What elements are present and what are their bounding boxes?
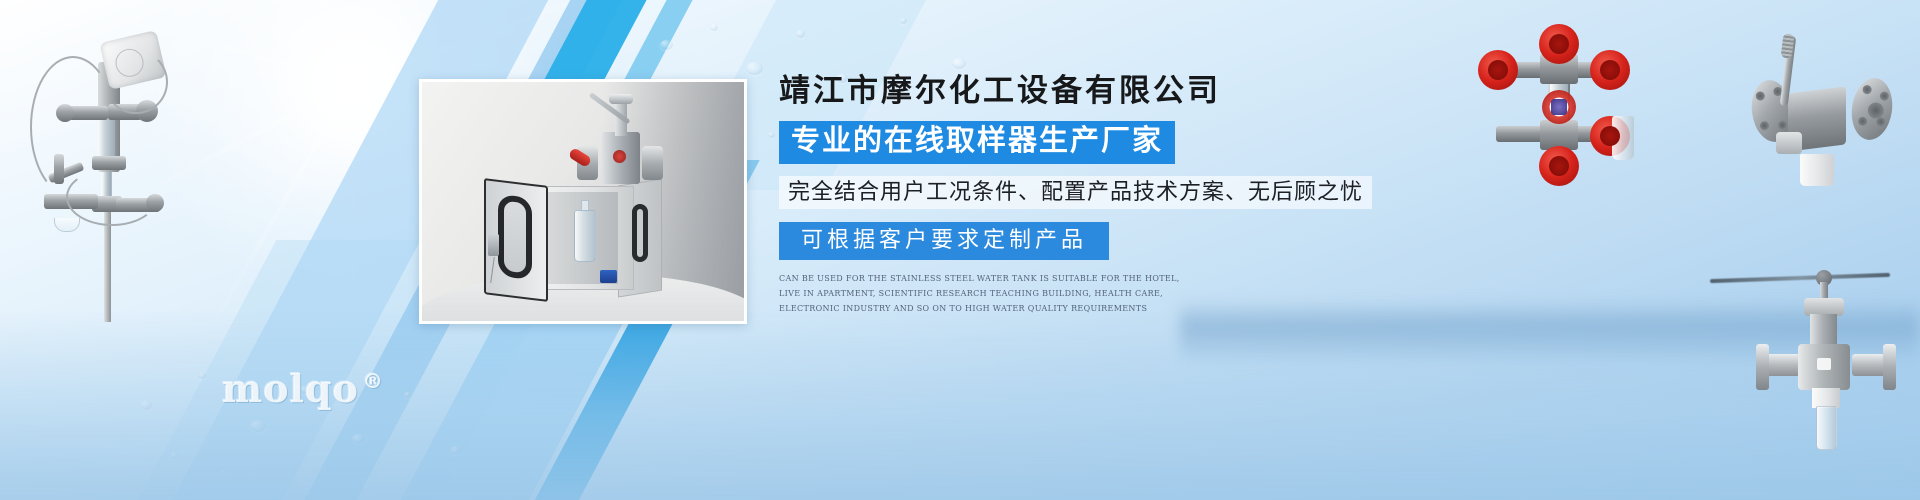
subline-highlight-bar: 完全结合用户工况条件、配置产品技术方案、无后顾之忧 [779,176,1372,209]
headline-highlight-bar: 专业的在线取样器生产厂家 [779,121,1175,163]
banner-text-block: 靖江市摩尔化工设备有限公司 专业的在线取样器生产厂家 完全结合用户工况条件、配置… [779,74,1399,316]
headline-text: 专业的在线取样器生产厂家 [791,126,1163,156]
red-handwheel-icon [1478,50,1518,90]
promo-banner: 靖江市摩尔化工设备有限公司 专业的在线取样器生产厂家 完全结合用户工况条件、配置… [0,0,1920,500]
watermark-brand: molqo [222,366,359,411]
company-name: 靖江市摩尔化工设备有限公司 [779,74,1399,108]
tagline-text: 可根据客户要求定制产品 [801,228,1087,252]
product-cross-sampler [1472,28,1652,176]
brand-watermark: molqo® [222,366,384,411]
red-handwheel-icon [1539,24,1579,64]
sampler-cabinet-photo [422,82,744,321]
english-description-text: CAN BE USED FOR THE STAINLESS STEEL WATE… [779,272,1183,316]
product-left-sampler [8,22,198,322]
product-gate-valve [1756,262,1896,477]
registered-trademark-icon: ® [363,369,384,393]
red-handwheel-icon [1539,146,1579,186]
subline-text: 完全结合用户工况条件、配置产品技术方案、无后顾之忧 [788,180,1363,204]
brand-badge-icon [1542,90,1576,124]
product-lever-valve [1748,32,1898,212]
red-handwheel-icon [1590,50,1630,90]
tagline-highlight-bar: 可根据客户要求定制产品 [779,222,1109,260]
product-photo-card [419,79,747,324]
